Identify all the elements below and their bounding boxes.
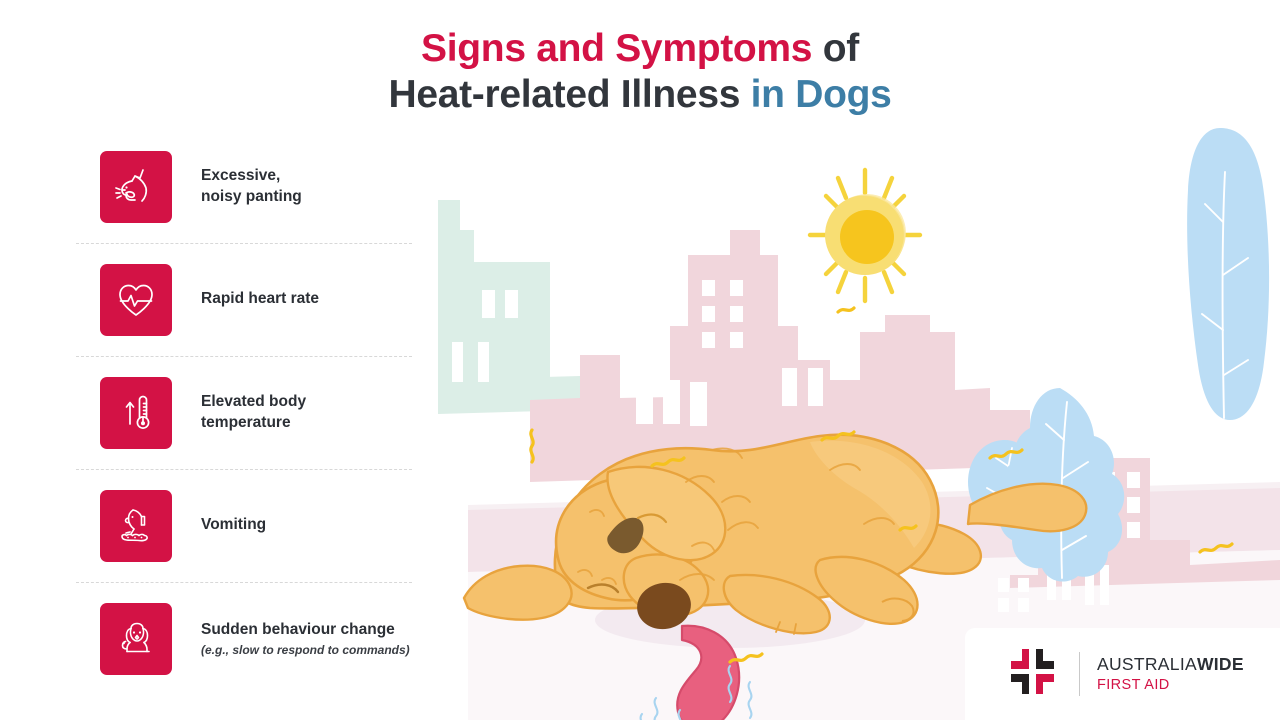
logo-line-1: AUSTRALIAWIDE xyxy=(1097,654,1244,675)
title-part-of: of xyxy=(812,27,859,70)
australia-wide-cross-logo xyxy=(1009,647,1063,701)
title-line-1: Signs and Symptoms of xyxy=(0,26,1280,72)
symptom-text-group: Rapid heart rate xyxy=(201,289,319,309)
thermometer-up-icon xyxy=(100,377,172,449)
symptom-text-group: Excessive, noisy panting xyxy=(201,166,302,206)
symptom-label: Rapid heart rate xyxy=(201,289,319,309)
symptom-sublabel: (e.g., slow to respond to commands) xyxy=(201,643,410,657)
logo-australia: AUSTRALIA xyxy=(1097,654,1197,674)
dog-sitting-icon xyxy=(100,603,172,675)
list-item[interactable]: Vomiting xyxy=(76,469,426,582)
list-item[interactable]: Sudden behaviour change (e.g., slow to r… xyxy=(76,582,426,695)
logo-divider xyxy=(1079,652,1080,696)
symptom-label: Elevated body temperature xyxy=(201,392,306,432)
brand-logo: AUSTRALIAWIDE FIRST AID xyxy=(965,628,1280,720)
list-item[interactable]: Elevated body temperature xyxy=(76,356,426,469)
logo-wide: WIDE xyxy=(1197,654,1244,674)
list-item[interactable]: Excessive, noisy panting xyxy=(76,130,426,243)
symptom-list: Excessive, noisy panting Rapid heart rat… xyxy=(76,130,426,695)
symptom-label: Excessive, noisy panting xyxy=(201,166,302,206)
logo-wordmark: AUSTRALIAWIDE FIRST AID xyxy=(1097,654,1244,694)
symptom-label: Vomiting xyxy=(201,515,266,535)
page-title: Signs and Symptoms of Heat-related Illne… xyxy=(0,26,1280,118)
symptom-text-group: Sudden behaviour change (e.g., slow to r… xyxy=(201,620,410,656)
list-item[interactable]: Rapid heart rate xyxy=(76,243,426,356)
dog-vomiting-icon xyxy=(100,490,172,562)
title-part-signs-symptoms: Signs and Symptoms xyxy=(421,27,812,70)
logo-line-2: FIRST AID xyxy=(1097,677,1244,694)
sun-icon xyxy=(810,170,920,301)
dog-panting-icon xyxy=(100,151,172,223)
symptom-text-group: Elevated body temperature xyxy=(201,392,306,432)
symptom-text-group: Vomiting xyxy=(201,515,266,535)
heart-pulse-icon xyxy=(100,264,172,336)
symptom-label: Sudden behaviour change xyxy=(201,620,410,640)
